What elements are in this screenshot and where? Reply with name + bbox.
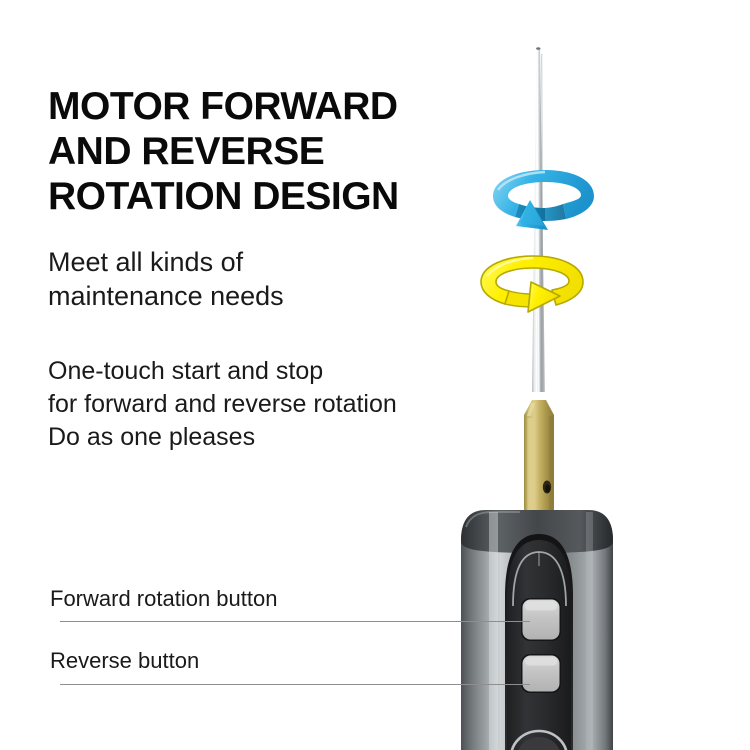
brass-collet-chuck bbox=[524, 400, 554, 512]
callout-label-reverse-button: Reverse button bbox=[50, 648, 199, 674]
reverse-rotation-button[interactable] bbox=[521, 654, 561, 693]
subheading-text: Meet all kinds of maintenance needs bbox=[48, 245, 448, 313]
callout-label-forward-rotation-button: Forward rotation button bbox=[50, 586, 277, 612]
page-title: MOTOR FORWARD AND REVERSE ROTATION DESIG… bbox=[48, 84, 478, 219]
forward-rotation-button[interactable] bbox=[521, 598, 561, 641]
callout-leader-line-reverse bbox=[60, 684, 530, 685]
body-description-text: One-touch start and stop for forward and… bbox=[48, 355, 468, 454]
callout-leader-line-forward bbox=[60, 621, 530, 622]
forward-rotation-arrow bbox=[493, 170, 594, 230]
reverse-rotation-arrow bbox=[481, 256, 583, 312]
dark-control-panel bbox=[505, 534, 573, 750]
marketing-image-canvas: MOTOR FORWARD AND REVERSE ROTATION DESIG… bbox=[0, 0, 750, 750]
